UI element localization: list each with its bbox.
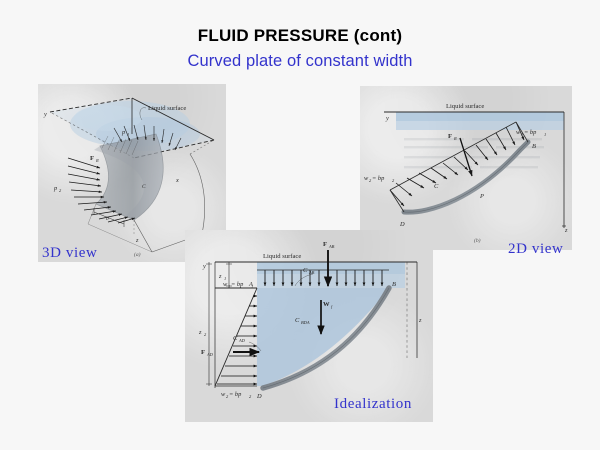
svg-text:F: F <box>448 133 452 140</box>
axis-x-label-3d: x <box>175 177 179 184</box>
svg-text:= bp: = bp <box>231 281 243 288</box>
svg-text:F: F <box>90 155 94 162</box>
svg-text:F: F <box>323 241 327 248</box>
slide-canvas: FLUID PRESSURE (cont) Curved plate of co… <box>0 0 600 450</box>
page-title: FLUID PRESSURE (cont) <box>0 26 600 46</box>
svg-text:= bp: = bp <box>524 129 536 136</box>
liquid-surface-label-ideal: Liquid surface <box>263 253 301 260</box>
depth-z2-label: z 2 <box>198 329 207 337</box>
idealization-diagram: Liquid surface y z z 1 z 2 w 1 = bp 1 w … <box>185 230 433 422</box>
svg-text:BDA: BDA <box>301 320 310 325</box>
svg-text:1: 1 <box>521 132 523 137</box>
svg-text:AD: AD <box>206 352 214 357</box>
figure-number-3d: (a) <box>134 251 141 258</box>
svg-text:2: 2 <box>59 188 62 193</box>
caption-2d-view: 2D view <box>508 241 563 258</box>
pressure-p2-label-3d: p 2 <box>53 185 62 193</box>
svg-text:p: p <box>53 185 57 192</box>
w2-label-ideal: w 2 = bp 2 <box>221 391 252 399</box>
axis-z-label-3d: z <box>135 237 139 244</box>
svg-text:2: 2 <box>249 394 252 399</box>
depth-z1-label: z 1 <box>218 273 226 281</box>
point-p-label-2d: P <box>479 193 484 200</box>
figure-panel-2d-view: Liquid surface y z w 1 = bp 1 w 2 = bp 2… <box>360 86 572 250</box>
force-ab-label: F AB <box>323 241 335 249</box>
point-a-label: A <box>248 281 253 288</box>
svg-text:2: 2 <box>392 178 395 183</box>
page-subtitle: Curved plate of constant width <box>0 52 600 71</box>
svg-text:C: C <box>303 267 308 274</box>
svg-text:F: F <box>201 349 205 356</box>
svg-text:W: W <box>323 301 330 308</box>
svg-text:R: R <box>95 158 99 163</box>
axis-y-label-ideal: y <box>202 263 206 270</box>
point-d-label-2d: D <box>399 221 405 228</box>
point-c-label-3d: C <box>142 184 146 190</box>
svg-text:2: 2 <box>204 332 207 337</box>
caption-idealization: Idealization <box>334 396 412 413</box>
axis-y-label-3d: y <box>43 111 47 118</box>
point-b-label: B <box>392 281 396 288</box>
svg-text:AB: AB <box>328 244 335 249</box>
svg-text:p: p <box>121 129 125 136</box>
svg-text:C: C <box>233 335 238 342</box>
point-c-label-2d: C <box>434 183 439 190</box>
force-ad-label: F AD <box>201 349 214 357</box>
figure-number-2d: (b) <box>474 237 481 244</box>
w2-label-2d: w 2 = bp 2 <box>364 175 395 183</box>
figure-panel-idealization: Liquid surface y z z 1 z 2 w 1 = bp 1 w … <box>185 230 433 422</box>
point-b-label-2d: B <box>532 143 536 150</box>
liquid-surface-label-2d: Liquid surface <box>446 103 484 110</box>
axis-y-label-2d: y <box>385 115 389 122</box>
liquid-surface-label-3d: Liquid surface <box>148 105 186 112</box>
point-d-label: D <box>256 393 262 400</box>
svg-text:R: R <box>453 136 457 141</box>
svg-text:= bp: = bp <box>229 391 241 398</box>
svg-text:z: z <box>198 329 202 336</box>
svg-text:AD: AD <box>238 338 246 343</box>
svg-text:z: z <box>218 273 222 280</box>
svg-text:AB: AB <box>308 270 315 275</box>
svg-text:= bp: = bp <box>372 175 384 182</box>
axis-z-label-2d: z <box>564 227 568 234</box>
caption-3d-view: 3D view <box>42 245 97 262</box>
svg-text:1: 1 <box>228 284 230 289</box>
svg-text:1: 1 <box>544 132 546 137</box>
svg-text:C: C <box>295 317 300 324</box>
force-r-label-3d: F R <box>90 155 99 163</box>
axis-z-label-ideal: z <box>418 317 422 324</box>
two-d-view-diagram: Liquid surface y z w 1 = bp 1 w 2 = bp 2… <box>360 86 572 250</box>
svg-text:1: 1 <box>127 132 129 137</box>
width-b-label-3d: b <box>106 216 109 222</box>
